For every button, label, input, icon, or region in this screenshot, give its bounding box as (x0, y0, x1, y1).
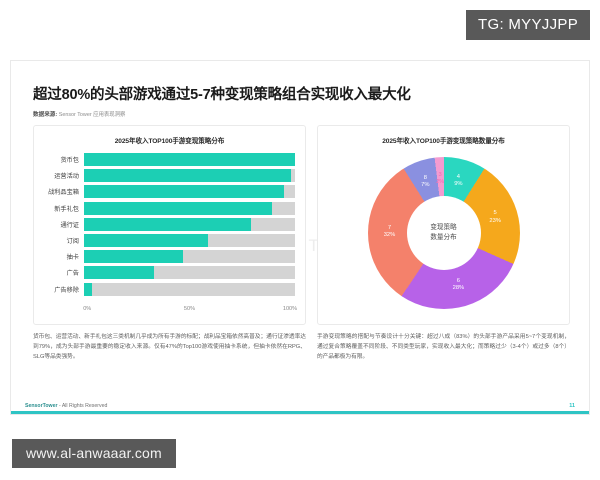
bar-track (84, 153, 295, 166)
donut-center-label: 变现策略 数量分布 (407, 196, 481, 270)
donut-chart-plot: 变现策略 数量分布 49%523%628%732%87%32% (318, 148, 569, 324)
bar-track (84, 250, 295, 263)
bar-fill (84, 283, 92, 296)
donut-slice-value: 8 (421, 175, 429, 182)
donut-slice-label: 49% (454, 174, 462, 188)
bar-row: 广告移除 (34, 282, 305, 297)
donut-slice-percent: 23% (489, 217, 501, 224)
donut-center-line-1: 变现策略 (430, 223, 456, 233)
bar-track (84, 185, 295, 198)
donut-slice-percent: 32% (384, 232, 396, 239)
screenshot-root: TG: MYYJJPP 超过80%的头部游戏通过5-7种变现策略组合实现收入最大… (0, 0, 600, 480)
donut-chart-title: 2025年收入TOP100手游变现策略数量分布 (318, 135, 569, 145)
donut-slice-percent: 28% (453, 285, 465, 292)
bar-fill (84, 218, 251, 231)
donut-slice-percent: 7% (421, 182, 429, 189)
bar-category-label: 货币包 (34, 155, 84, 164)
donut-slice-label: 87% (421, 175, 429, 189)
donut-center-line-2: 数量分布 (430, 233, 456, 243)
bar-row: 订阅 (34, 233, 305, 248)
donut-slice-value: 4 (454, 174, 462, 181)
right-commentary: 手游变现策略的搭配与节奏设计十分关键：超过八成（83%）的头部手游产品采用5~7… (317, 333, 570, 362)
data-source-label: 数据来源: (33, 112, 57, 118)
donut-slice-percent: 2% (436, 179, 444, 186)
footer-copyright: SensorTower - All Rights Reserved (25, 403, 107, 409)
bar-category-label: 运营活动 (34, 171, 84, 180)
data-source-value: Sensor Tower 应用表现洞察 (59, 112, 126, 118)
bar-fill (84, 185, 284, 198)
bar-fill (84, 169, 291, 182)
bar-track (84, 266, 295, 279)
bar-axis-tick: 100% (283, 306, 297, 312)
source-url-watermark: www.al-anwaaar.com (12, 439, 176, 468)
bar-track (84, 202, 295, 215)
bar-fill (84, 234, 208, 247)
page-title: 超过80%的头部游戏通过5-7种变现策略组合实现收入最大化 (33, 83, 411, 104)
bar-chart-card: 2025年收入TOP100手游变现策略分布 货币包运营活动战利品宝箱新手礼包通行… (33, 125, 306, 325)
donut-ring: 变现策略 数量分布 49%523%628%732%87%32% (368, 157, 520, 309)
bar-category-label: 抽卡 (34, 252, 84, 261)
slide-footer: SensorTower - All Rights Reserved 11 (11, 398, 589, 414)
bar-axis-tick: 0% (83, 306, 91, 312)
bar-category-label: 战利品宝箱 (34, 187, 84, 196)
bar-track (84, 234, 295, 247)
bar-fill (84, 202, 272, 215)
donut-slice-value: 5 (489, 210, 501, 217)
donut-slice-percent: 9% (454, 181, 462, 188)
bar-fill (84, 250, 183, 263)
bar-category-label: 通行证 (34, 220, 84, 229)
bar-category-label: 新手礼包 (34, 204, 84, 213)
data-source-line: 数据来源: Sensor Tower 应用表现洞察 (33, 110, 125, 118)
bar-row: 通行证 (34, 217, 305, 232)
bar-track (84, 283, 295, 296)
donut-slice-value: 6 (453, 278, 465, 285)
bar-row: 运营活动 (34, 168, 305, 183)
bar-category-label: 广告移除 (34, 285, 84, 294)
bar-row: 广告 (34, 265, 305, 280)
bar-row: 战利品宝箱 (34, 184, 305, 199)
bar-fill (84, 153, 295, 166)
bar-row: 抽卡 (34, 249, 305, 264)
page-number: 11 (569, 403, 575, 409)
donut-slice-value: 3 (436, 172, 444, 179)
donut-slice-label: 732% (384, 225, 396, 239)
bar-chart-x-axis: 0%50%100% (84, 306, 295, 316)
bar-chart-title: 2025年收入TOP100手游变现策略分布 (34, 135, 305, 145)
bar-row: 新手礼包 (34, 201, 305, 216)
telegram-watermark-badge: TG: MYYJJPP (466, 10, 590, 40)
left-commentary: 货币包、运营活动、新手礼包这三类机制几乎成为所有手游的标配；战利品宝箱依然高普及… (33, 333, 306, 362)
donut-slice-value: 7 (384, 225, 396, 232)
bar-chart-plot: 货币包运营活动战利品宝箱新手礼包通行证订阅抽卡广告广告移除0%50%100% (34, 150, 305, 324)
footer-rights: - All Rights Reserved (59, 403, 107, 409)
bar-row: 货币包 (34, 152, 305, 167)
bar-track (84, 218, 295, 231)
footer-accent-bar (11, 411, 589, 414)
bar-category-label: 订阅 (34, 236, 84, 245)
bar-axis-tick: 50% (184, 306, 195, 312)
footer-brand: SensorTower (25, 403, 57, 409)
bar-fill (84, 266, 154, 279)
donut-slice-label: 628% (453, 278, 465, 292)
donut-slice-label: 523% (489, 210, 501, 224)
donut-slice-label: 32% (436, 172, 444, 186)
bar-category-label: 广告 (34, 268, 84, 277)
slide-canvas: 超过80%的头部游戏通过5-7种变现策略组合实现收入最大化 数据来源: Sens… (10, 60, 590, 415)
donut-chart-card: 2025年收入TOP100手游变现策略数量分布 变现策略 数量分布 49%523… (317, 125, 570, 325)
bar-track (84, 169, 295, 182)
